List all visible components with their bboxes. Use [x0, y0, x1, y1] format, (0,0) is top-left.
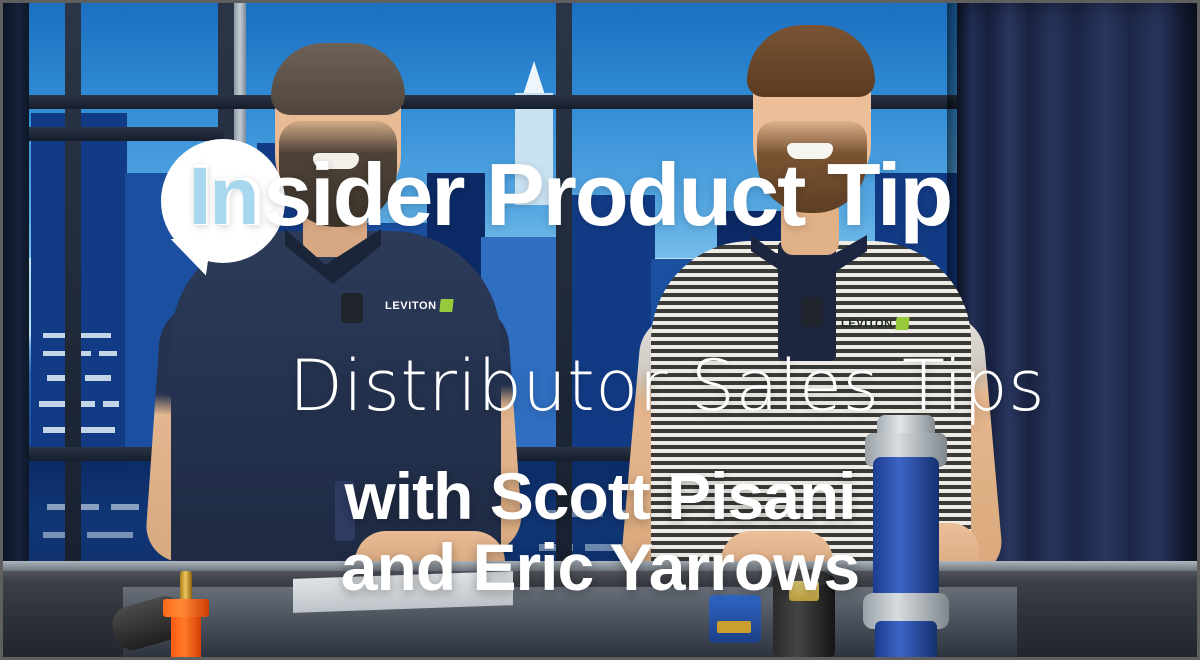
video-title-card: LEVITON LEVITON — [0, 0, 1200, 660]
page-title: Insider Product Tip — [189, 151, 951, 239]
title-overlay: In Insider Product Tip Distributor Sales… — [3, 3, 1197, 657]
presenter-credits: with Scott Pisani and Eric Yarrows — [3, 461, 1197, 604]
presenter-line-1: with Scott Pisani — [3, 461, 1197, 532]
subtitle: Distributor Sales Tips — [289, 351, 1045, 421]
scene-stage: LEVITON LEVITON — [3, 3, 1197, 657]
presenter-line-2: and Eric Yarrows — [3, 532, 1197, 603]
insider-logo-letters: In — [189, 156, 258, 238]
